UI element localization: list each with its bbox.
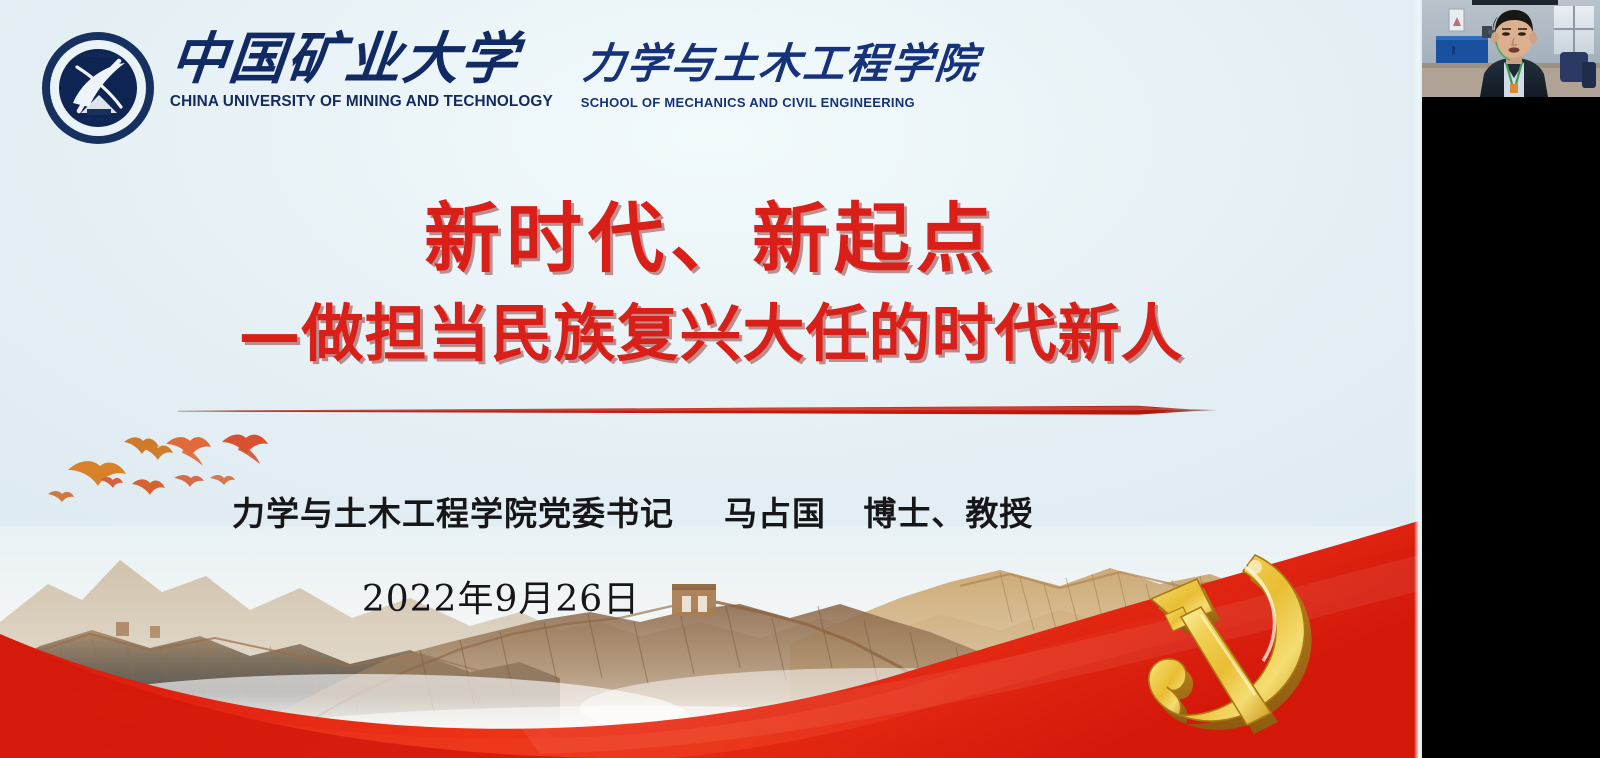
school-name-cn: 力学与土木工程学院: [581, 42, 981, 86]
university-name-block: 中国矿业大学 CHINA UNIVERSITY OF MINING AND TE…: [168, 30, 555, 111]
video-conference-sidebar[interactable]: [1422, 0, 1600, 758]
slide-title-line1: 新时代、新起点: [0, 196, 1422, 283]
university-name-en: CHINA UNIVERSITY OF MINING AND TECHNOLOG…: [170, 93, 553, 111]
screen: SCHOOL OF MECHANICS AND CIVIL ENGINEERIN…: [0, 0, 1600, 758]
presenter-webcam-feed[interactable]: [1422, 0, 1600, 97]
webcam-frame: [1422, 0, 1600, 97]
speaker-line: 力学与土木工程学院党委书记 马占国 博士、教授: [232, 487, 1033, 535]
red-tapered-divider: [178, 405, 1218, 419]
university-name-cn: 中国矿业大学: [168, 30, 561, 89]
video-panel-empty-area: [1422, 97, 1600, 758]
emblem-arc-text-bottom: 中国矿业大学力学与土木工程学院: [59, 117, 137, 123]
emblem-arc-text-top: SCHOOL OF MECHANICS AND CIVIL ENGINEERIN…: [59, 53, 137, 58]
slide-right-edge: [1414, 0, 1422, 758]
presentation-date: 2022年9月26日: [0, 570, 1422, 622]
branding-header: SCHOOL OF MECHANICS AND CIVIL ENGINEERIN…: [42, 30, 977, 144]
school-name-en: SCHOOL OF MECHANICS AND CIVIL ENGINEERIN…: [581, 95, 977, 110]
cumt-school-emblem: SCHOOL OF MECHANICS AND CIVIL ENGINEERIN…: [42, 32, 154, 144]
school-name-block: 力学与土木工程学院 SCHOOL OF MECHANICS AND CIVIL …: [581, 42, 977, 110]
divider-svg: [178, 405, 1218, 419]
presentation-slide: SCHOOL OF MECHANICS AND CIVIL ENGINEERIN…: [0, 0, 1422, 758]
emblem-pickaxe-icon: [59, 49, 137, 127]
slide-title-line2: —做担当民族复兴大任的时代新人: [0, 297, 1422, 370]
slide-title-block: 新时代、新起点 —做担当民族复兴大任的时代新人: [0, 196, 1422, 370]
